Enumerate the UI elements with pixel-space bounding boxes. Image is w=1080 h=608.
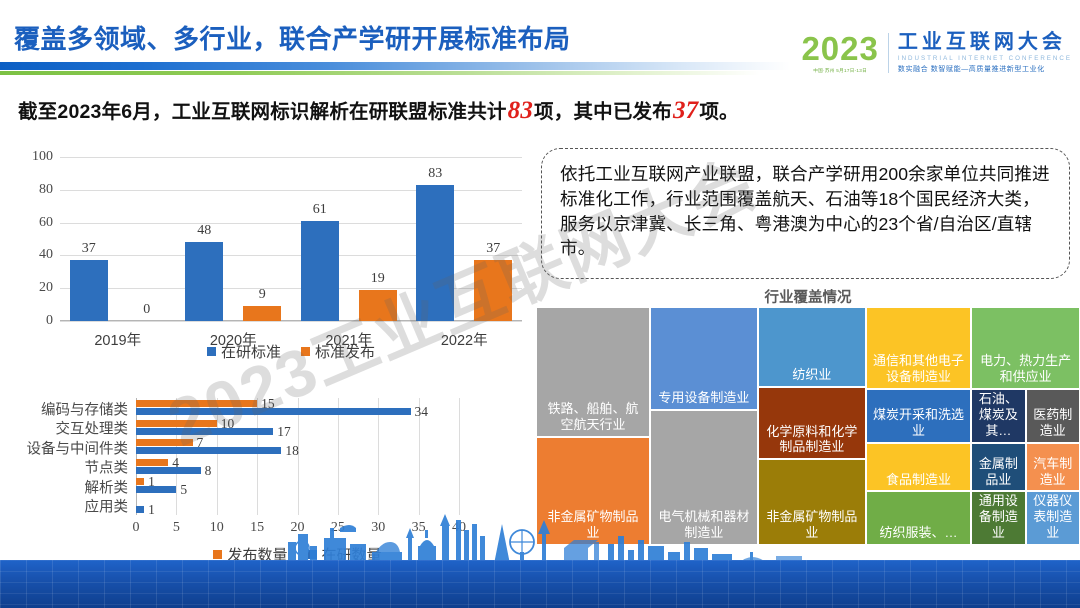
bar-value-label: 37 [82,241,96,257]
x-axis-tick-label: 0 [133,520,140,536]
bar-value-label: 48 [197,223,211,239]
bar[interactable]: 9 [243,306,281,321]
treemap-cell[interactable]: 煤炭开采和洗选业 [866,389,971,443]
logo-divider [888,33,889,73]
treemap-cell[interactable]: 电力、热力生产和供应业 [971,307,1080,389]
y-axis-tick-label: 20 [39,280,53,296]
legend-swatch-icon [301,347,310,356]
city-skyline-decoration [280,508,840,564]
page-title: 覆盖多领域、多行业，联合产学研开展标准布局 [14,19,571,56]
bar[interactable] [136,506,144,513]
legend-swatch-icon [213,550,222,559]
bar-group: 83372022年 [407,157,523,321]
treemap-cell[interactable]: 仪器仪表制造业 [1026,491,1080,545]
treemap-title: 行业覆盖情况 [536,286,1080,307]
bar[interactable] [136,478,144,485]
y-axis-category-label: 解析类 [85,476,129,497]
category-chart-plot-area: 05101520253035401534编码与存储类1017交互处理类718设备… [136,398,459,515]
gridline [60,321,522,322]
bar[interactable]: 61 [301,221,339,321]
logo-main-title: 工业互联网大会 [898,32,1072,53]
treemap-cell-label: 纺织服装、… [872,525,965,541]
bar-value-label: 9 [259,287,266,303]
header-rule-green [0,71,760,75]
logo-year: 2023 [801,32,878,65]
bar[interactable]: 37 [70,260,108,321]
bar-value-label: 8 [205,463,212,479]
y-axis-tick-label: 60 [39,215,53,231]
summary-released-count: 37 [672,97,699,124]
bar[interactable]: 83 [416,185,454,321]
treemap-cell-label: 食品制造业 [872,472,965,488]
bar-value-label: 61 [313,202,327,218]
bar[interactable] [136,420,217,427]
bar-row: 718设备与中间件类 [136,439,459,459]
bar-group: 4892020年 [176,157,292,321]
treemap-cell[interactable]: 专用设备制造业 [650,307,758,410]
bar[interactable] [136,486,176,493]
bar-row: 1534编码与存储类 [136,400,459,420]
legend-label: 标准发布 [315,341,375,362]
bar[interactable]: 19 [359,290,397,321]
y-axis-category-label: 设备与中间件类 [27,437,129,458]
yearly-chart-plot-area: 0204060801003702019年4892020年61192021年833… [60,157,522,321]
treemap-cell[interactable]: 化学原料和化学制品制造业 [758,387,866,460]
treemap-cell-label: 金属制品业 [977,456,1019,488]
legend-swatch-icon [207,347,216,356]
treemap-cell-label: 通信和其他电子设备制造业 [872,353,965,385]
summary-statement: 截至2023年6月，工业互联网标识解析在研联盟标准共计83项，其中已发布37项。 [18,95,739,125]
yearly-standards-bar-chart: 0204060801003702019年4892020年61192021年833… [8,143,536,378]
bar-row: 1017交互处理类 [136,420,459,440]
bar[interactable] [136,400,257,407]
treemap-cell[interactable]: 通信和其他电子设备制造业 [866,307,971,389]
summary-part-3: 项。 [699,101,738,123]
bar-value-label: 34 [415,404,429,420]
gridline [459,398,460,515]
y-axis-tick-label: 100 [32,149,53,165]
treemap-cell[interactable]: 铁路、船舶、航空航天行业 [536,307,650,437]
bar-value-label: 1 [148,502,155,518]
legend-item[interactable]: 在研标准 [207,341,281,362]
treemap-cell-label: 石油、煤炭及其… [977,391,1019,439]
y-axis-tick-label: 80 [39,182,53,198]
treemap-cell-label: 化学原料和化学制品制造业 [764,424,860,456]
treemap-cell[interactable]: 金属制品业 [971,443,1025,492]
treemap-cell-label: 汽车制造业 [1032,456,1074,488]
bar-value-label: 83 [428,166,442,182]
treemap-cell-label: 专用设备制造业 [656,390,752,406]
page-header: 覆盖多领域、多行业，联合产学研开展标准布局 2023 中国·苏州 5月17日-1… [0,0,1080,88]
y-axis-category-label: 编码与存储类 [41,398,128,419]
treemap-cell[interactable]: 纺织业 [758,307,866,387]
y-axis-category-label: 交互处理类 [56,418,129,439]
header-rule-blue [0,62,790,70]
y-axis-category-label: 应用类 [85,496,129,517]
y-axis-tick-label: 40 [39,247,53,263]
logo-english-title: INDUSTRIAL INTERNET CONFERENCE [898,55,1072,62]
treemap-cell[interactable]: 石油、煤炭及其… [971,389,1025,443]
treemap-cell[interactable]: 通用设备制造业 [971,491,1025,545]
treemap-cell[interactable]: 纺织服装、… [866,491,971,545]
bar-value-label: 17 [277,424,291,440]
treemap-cell-label: 通用设备制造业 [977,493,1019,541]
logo-year-subtext: 中国·苏州 5月17日-13日 [801,68,878,74]
y-axis-category-label: 节点类 [85,457,129,478]
bar-group: 3702019年 [60,157,176,321]
bar-value-label: 37 [486,241,500,257]
bar-row: 15解析类 [136,478,459,498]
treemap-cell[interactable]: 汽车制造业 [1026,443,1080,492]
bar-value-label: 18 [285,443,299,459]
summary-total-count: 83 [507,97,534,124]
treemap-cell[interactable]: 食品制造业 [866,443,971,492]
bar-value-label: 5 [180,482,187,498]
summary-part-2: 项，其中已发布 [534,101,672,123]
bar[interactable] [136,408,411,415]
bar[interactable]: 48 [185,242,223,321]
bar-group: 61192021年 [291,157,407,321]
conference-logo: 2023 中国·苏州 5月17日-13日 工业互联网大会 INDUSTRIAL … [801,26,1072,80]
x-axis-tick-label: 5 [173,520,180,536]
legend-item[interactable]: 标准发布 [301,341,375,362]
bar-row: 48节点类 [136,459,459,479]
logo-year-block: 2023 中国·苏州 5月17日-13日 [801,32,878,74]
callout-text: 依托工业互联网产业联盟，联合产学研用200余家单位共同推进标准化工作，行业范围覆… [560,162,1051,261]
bar[interactable]: 37 [474,260,512,321]
treemap-cell[interactable]: 医药制造业 [1026,389,1080,443]
x-axis-tick-label: 10 [210,520,224,536]
x-axis-tick-label: 15 [250,520,264,536]
bar[interactable] [136,428,273,435]
summary-part-1: 截至2023年6月，工业互联网标识解析在研联盟标准共计 [18,101,507,123]
bar-value-label: 19 [371,271,385,287]
bar[interactable] [136,447,281,454]
treemap-cell-label: 医药制造业 [1032,407,1074,439]
bar[interactable] [136,459,168,466]
bar[interactable] [136,439,193,446]
treemap-cell-label: 煤炭开采和洗选业 [872,407,965,439]
bar[interactable] [136,467,201,474]
logo-chinese-tagline: 数实融合 数智赋能—高质量推进新型工业化 [898,64,1072,74]
yearly-chart-legend: 在研标准标准发布 [60,341,522,362]
industry-alliance-callout: 依托工业互联网产业联盟，联合产学研用200余家单位共同推进标准化工作，行业范围覆… [541,148,1070,279]
treemap-cell-label: 仪器仪表制造业 [1032,493,1074,541]
treemap-cell-label: 纺织业 [764,367,860,383]
logo-text-block: 工业互联网大会 INDUSTRIAL INTERNET CONFERENCE 数… [898,32,1072,74]
bar-value-label: 0 [143,302,150,318]
legend-label: 在研标准 [221,341,281,362]
y-axis-tick-label: 0 [46,313,53,329]
footer-band [0,560,1080,608]
treemap-cell-label: 电力、热力生产和供应业 [977,353,1074,385]
treemap-cell-label: 铁路、船舶、航空航天行业 [542,401,644,433]
